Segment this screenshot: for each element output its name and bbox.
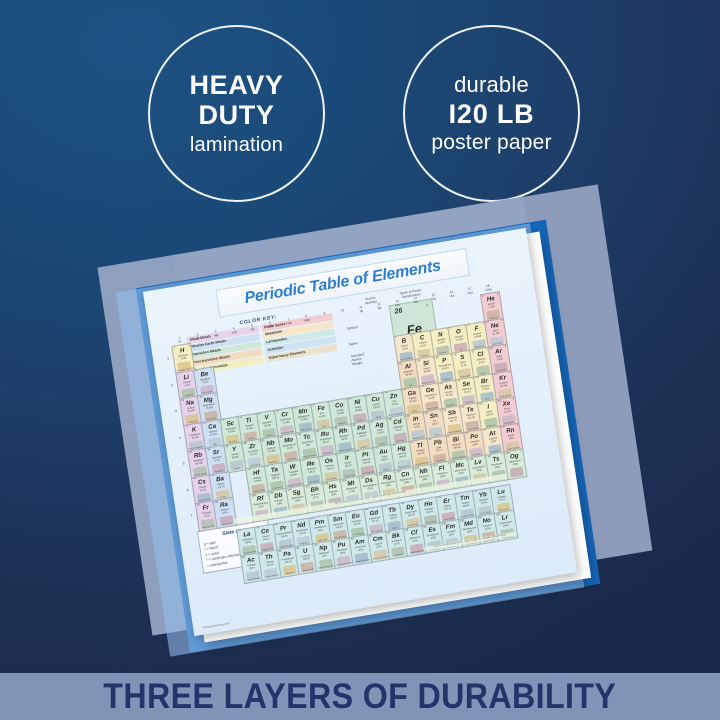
- group-header: 3IIIB: [206, 329, 225, 339]
- period-number: 1: [167, 357, 169, 361]
- group-header: 6VIB: [261, 320, 280, 330]
- group-header: 9: [315, 311, 334, 318]
- period-number: 5: [183, 462, 185, 466]
- badge-paper-line1: durable: [454, 73, 529, 96]
- period-number: 6: [186, 488, 188, 492]
- group-header: 17VIIA: [460, 286, 479, 296]
- badge-120lb-poster-paper: durable I20 LB poster paper: [403, 25, 580, 202]
- bottom-banner: THREE LAYERS OF DURABILITY: [0, 673, 720, 720]
- element-illustration: [510, 467, 524, 478]
- group-header: 15VA: [424, 293, 443, 303]
- badge-heavy-duty-lamination: HEAVY DUTY lamination: [148, 25, 325, 202]
- group-header: 11IB: [352, 305, 371, 315]
- group-header: 4IVB: [224, 326, 243, 336]
- badge-paper-line3: poster paper: [431, 132, 551, 154]
- bottom-banner-text: THREE LAYERS OF DURABILITY: [104, 677, 617, 717]
- period-number: 3: [175, 409, 177, 413]
- period-number: 7: [190, 514, 192, 518]
- group-header: 14IVA: [406, 296, 425, 306]
- badge-paper-line2: I20 LB: [449, 100, 535, 129]
- periodic-table-poster: Periodic Table of Elements COLOR KEY: Al…: [143, 228, 577, 636]
- group-header: 13IIIA: [388, 299, 407, 309]
- group-header: 10: [333, 308, 352, 315]
- group-header: 12IIB: [370, 302, 389, 312]
- periodic-grid: 1gHHydrogen1.008Hydrogen Fuel Cell2gHeHe…: [163, 271, 564, 624]
- group-header: 8VIIIB: [297, 314, 316, 324]
- badge-heavy-line3: lamination: [190, 135, 283, 156]
- period-number: 2: [171, 383, 173, 387]
- badge-heavy-line2: DUTY: [199, 101, 275, 130]
- promo-image: HEAVY DUTY lamination durable I20 LB pos…: [0, 0, 720, 720]
- element-cell[interactable]: 88sRaRadium(226)Glow Paint: [213, 497, 237, 529]
- group-header: 16VIA: [442, 289, 461, 299]
- period-number: 4: [179, 435, 181, 439]
- group-header: 7VIIB: [279, 317, 298, 327]
- group-header: 5VB: [243, 323, 262, 333]
- badge-heavy-line1: HEAVY: [189, 71, 283, 100]
- group-header: 2IIA: [188, 332, 207, 342]
- layered-sheets: Periodic Table of Elements COLOR KEY: Al…: [0, 200, 720, 670]
